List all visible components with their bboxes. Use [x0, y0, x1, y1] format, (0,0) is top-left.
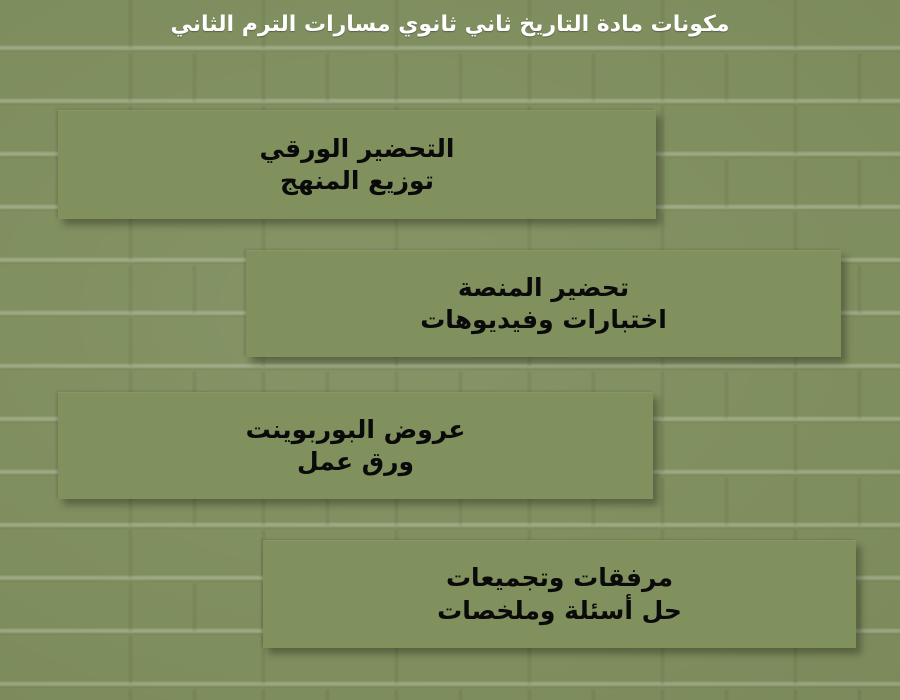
box-2-line-2: اختبارات وفيديوهات	[420, 304, 667, 337]
slide-canvas: مكونات مادة التاريخ ثاني ثانوي مسارات ال…	[0, 0, 900, 700]
box-1-line-1: التحضير الورقي	[260, 133, 455, 166]
box-3-line-2: ورق عمل	[297, 446, 414, 479]
box-4-line-1: مرفقات وتجميعات	[446, 562, 673, 595]
box-1-line-2: توزيع المنهج	[280, 165, 434, 198]
content-box-3[interactable]: عروض البوربوينت ورق عمل	[58, 392, 653, 499]
box-3-line-1: عروض البوربوينت	[246, 414, 466, 447]
content-box-2[interactable]: تحضير المنصة اختبارات وفيديوهات	[246, 250, 841, 357]
content-box-4[interactable]: مرفقات وتجميعات حل أسئلة وملخصات	[263, 540, 856, 648]
slide-title: مكونات مادة التاريخ ثاني ثانوي مسارات ال…	[0, 10, 900, 40]
box-4-line-2: حل أسئلة وملخصات	[437, 595, 682, 628]
box-2-line-1: تحضير المنصة	[458, 272, 629, 305]
content-box-1[interactable]: التحضير الورقي توزيع المنهج	[58, 110, 656, 219]
